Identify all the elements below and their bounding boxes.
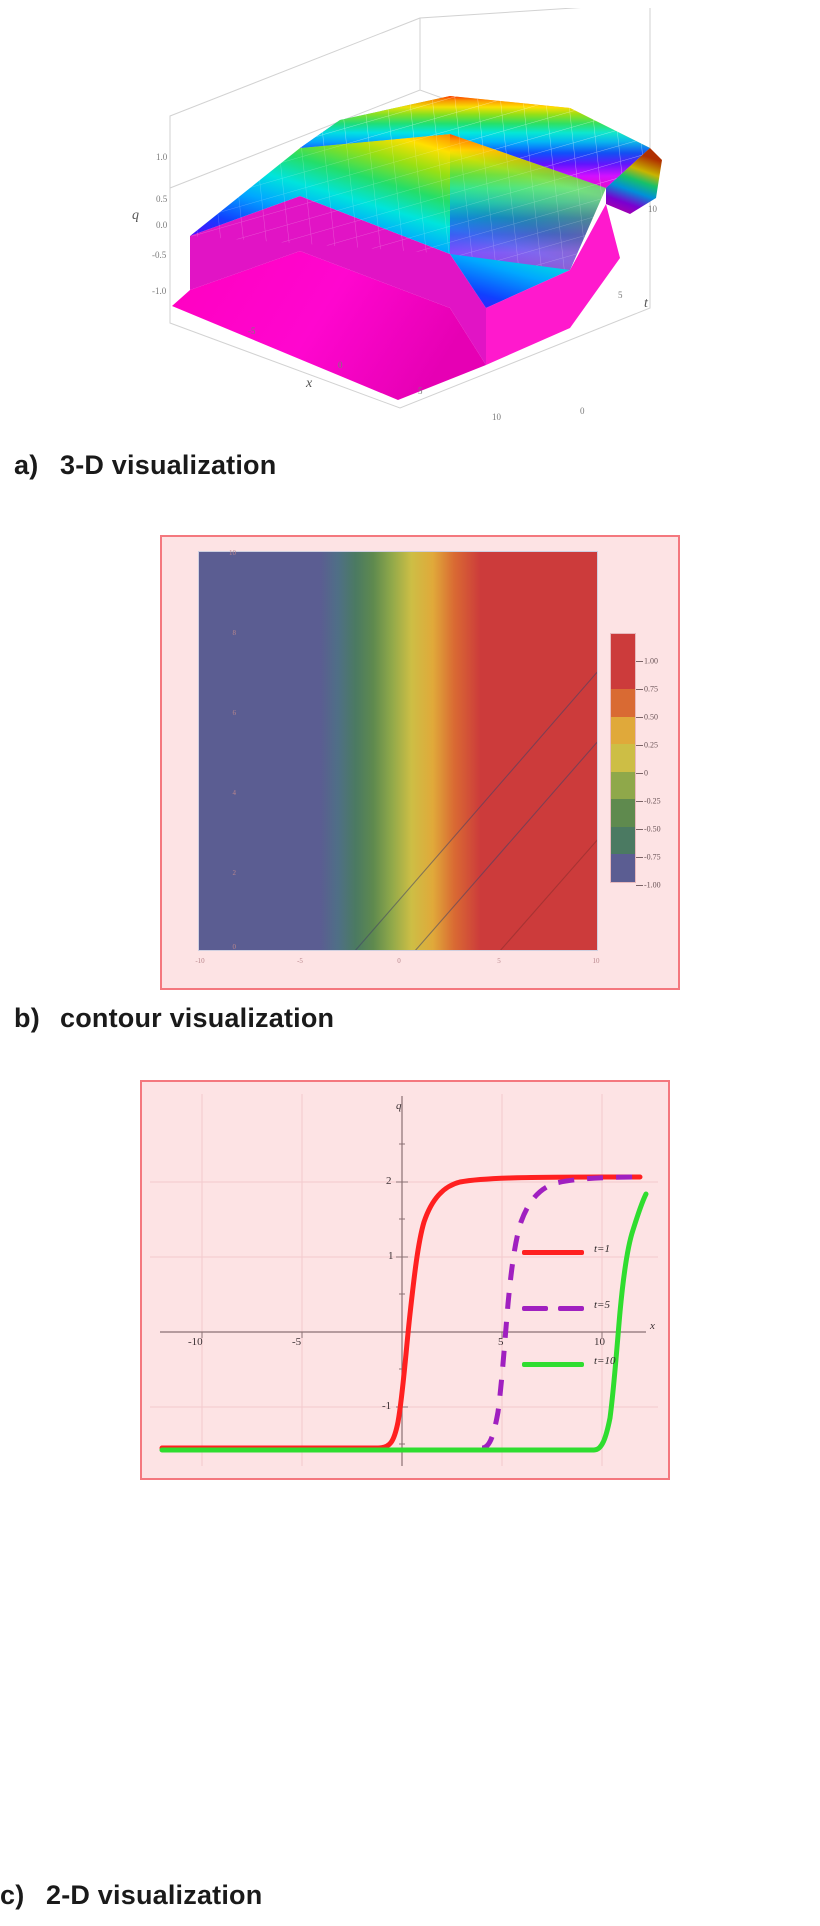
legend-swatch-t10 [522, 1362, 584, 1367]
z-tick-4: -1.0 [152, 286, 166, 296]
contour-plot-area [198, 551, 598, 951]
contour-x-tick-5: 5 [497, 957, 501, 965]
colorbar-label-m1.00: -1.00 [644, 881, 661, 890]
axis-label-x: x [306, 376, 312, 392]
contour-x-tick-m10: -10 [195, 957, 204, 965]
panel-contour-visualization: 10 8 6 4 2 0 -10 -5 0 5 10 1.00 0.75 0.5… [160, 535, 680, 990]
z-tick-2: 0.0 [156, 220, 167, 230]
x-axis-label-x: x [650, 1320, 655, 1332]
legend-swatch-t5-a [522, 1306, 548, 1311]
y-tick-label-1: 1 [388, 1250, 394, 1262]
colorbar-seg-6 [611, 772, 635, 800]
caption-b-text: contour visualization [60, 1003, 334, 1033]
x-tick-label-10: 10 [594, 1336, 605, 1348]
colorbar-tick-0 [636, 661, 643, 662]
caption-a-text: 3-D visualization [60, 450, 276, 480]
x-tick-0: -5 [248, 326, 256, 336]
colorbar-tick-8 [636, 885, 643, 886]
contour-svg [199, 552, 598, 951]
legend-swatch-t1 [522, 1250, 584, 1255]
x-tick-label-m10: -10 [188, 1336, 203, 1348]
contour-y-tick-6: 6 [233, 709, 237, 717]
contour-y-tick-2: 2 [233, 869, 237, 877]
x-tick-3: 10 [492, 412, 501, 422]
series-t10-path [162, 1194, 646, 1450]
z-tick-3: -0.5 [152, 250, 166, 260]
x-tick-2: 5 [418, 386, 423, 396]
colorbar-tick-5 [636, 801, 643, 802]
y-axis-label-q: q [396, 1100, 402, 1112]
colorbar-seg-4 [611, 717, 635, 745]
contour-y-tick-0: 0 [233, 943, 237, 951]
contour-y-tick-10: 10 [229, 549, 236, 557]
plot-3d-box: 1.0 0.5 0.0 -0.5 -1.0 q -5 0 5 10 x 10 5… [150, 8, 670, 418]
caption-a: a)3-D visualization [14, 450, 276, 481]
colorbar-seg-7 [611, 799, 635, 827]
y-tick-label-m1: -1 [382, 1400, 391, 1412]
caption-c: c)2-D visualization [0, 1880, 262, 1911]
colorbar-seg-3 [611, 689, 635, 717]
colorbar-seg-1 [611, 634, 635, 662]
surface-plot-svg [150, 8, 670, 418]
legend-label-t5: t=5 [594, 1299, 610, 1311]
contour-colorbar [610, 633, 636, 883]
caption-c-text: 2-D visualization [46, 1880, 262, 1910]
colorbar-tick-6 [636, 829, 643, 830]
colorbar-seg-8 [611, 827, 635, 855]
t-tick-2: 0 [580, 406, 585, 416]
axis-label-q: q [132, 208, 139, 224]
colorbar-tick-3 [636, 745, 643, 746]
colorbar-label-0.25: 0.25 [644, 741, 658, 750]
colorbar-seg-9 [611, 854, 635, 882]
z-tick-0: 1.0 [156, 152, 167, 162]
contour-y-tick-4: 4 [233, 789, 237, 797]
contour-x-tick-0: 0 [397, 957, 401, 965]
colorbar-label-0: 0 [644, 769, 648, 778]
caption-b-label: b) [14, 1003, 60, 1034]
surface-geometry [172, 96, 662, 400]
axis-label-t: t [644, 296, 648, 312]
x-tick-label-5: 5 [498, 1336, 504, 1348]
colorbar-label-m0.75: -0.75 [644, 853, 661, 862]
t-tick-1: 5 [618, 290, 623, 300]
caption-c-label: c) [0, 1880, 46, 1911]
grid-lines [150, 1094, 658, 1466]
panel-2d-visualization: q x -10 -5 5 10 2 1 -1 t=1 t=5 t=10 [140, 1080, 670, 1480]
x-tick-1: 0 [338, 360, 343, 370]
colorbar-label-0.50: 0.50 [644, 713, 658, 722]
legend-label-t1: t=1 [594, 1243, 610, 1255]
colorbar-tick-1 [636, 689, 643, 690]
axis-lines [160, 1096, 646, 1466]
contour-x-tick-m5: -5 [297, 957, 303, 965]
colorbar-tick-7 [636, 857, 643, 858]
colorbar-label-0.75: 0.75 [644, 685, 658, 694]
colorbar-tick-2 [636, 717, 643, 718]
panel-3d-visualization: 1.0 0.5 0.0 -0.5 -1.0 q -5 0 5 10 x 10 5… [0, 0, 820, 440]
caption-a-label: a) [14, 450, 60, 481]
z-tick-1: 0.5 [156, 194, 167, 204]
colorbar-seg-2 [611, 662, 635, 690]
colorbar-seg-5 [611, 744, 635, 772]
contour-y-tick-8: 8 [233, 629, 237, 637]
colorbar-tick-4 [636, 773, 643, 774]
colorbar-label-1.00: 1.00 [644, 657, 658, 666]
legend-swatch-t5-b [558, 1306, 584, 1311]
legend-label-t10: t=10 [594, 1355, 615, 1367]
colorbar-label-m0.50: -0.50 [644, 825, 661, 834]
y-tick-label-2: 2 [386, 1175, 392, 1187]
line-plot-svg [142, 1082, 668, 1478]
caption-b: b)contour visualization [14, 1003, 334, 1034]
t-tick-0: 10 [648, 204, 657, 214]
contour-x-tick-10: 10 [593, 957, 600, 965]
x-tick-label-m5: -5 [292, 1336, 301, 1348]
colorbar-label-m0.25: -0.25 [644, 797, 661, 806]
